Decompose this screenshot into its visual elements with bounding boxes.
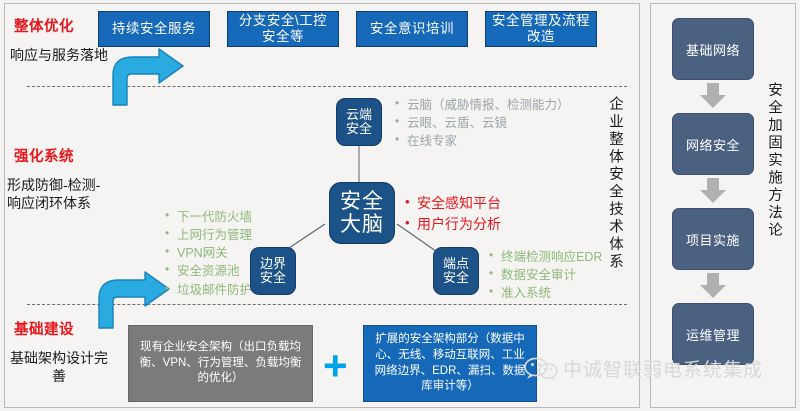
watermark: 中诚智联弱电系统集成 [524,355,763,382]
node-endpoint-security[interactable]: 端点 安全 [433,247,479,295]
plus-icon: + [323,345,348,387]
flow-arrow-0 [699,83,727,109]
existing-architecture-box[interactable]: 现有企业安全架构（出口负载均衡、VPN、行为管理、负载均衡的优化） [128,325,313,402]
node-security-brain-label: 安全 大脑 [340,190,384,236]
topbox-2[interactable]: 安全意识培训 [356,11,468,47]
stage-desc-0: 响应与服务落地 [9,47,109,65]
left-vertical-label: 企业整体安全技术体系 [605,96,626,271]
cyan-arrow-bottom [93,270,173,330]
list-item: 准入系统 [489,284,602,302]
topbox-0[interactable]: 持续安全服务 [98,11,210,47]
list-item: 用户行为分析 [405,214,501,235]
list-item: 垃圾邮件防护 [165,281,252,299]
diagram-canvas: 持续安全服务 分支安全\工控安全等 安全意识培训 安全管理及流程改造 整体优化 … [0,0,800,411]
list-item: 在线专家 [395,132,570,150]
right-panel: 基础网络 网络安全 项目实施 运维管理 安全加固实施方法论 [650,3,796,408]
flow-node-0[interactable]: 基础网络 [672,18,754,80]
topbox-3[interactable]: 安全管理及流程改造 [485,11,597,47]
stage-desc-2: 基础架构设计完善 [9,350,109,385]
wechat-icon [524,357,558,381]
topbox-1[interactable]: 分支安全\工控安全等 [227,11,339,47]
list-item: 下一代防火墙 [165,208,252,226]
flow-arrow-2 [699,273,727,299]
cyan-arrow-top [107,47,187,107]
node-boundary-security-label: 边界 安全 [260,257,286,286]
list-item: 云脑（威胁情报、检测能力） [395,96,570,114]
node-boundary-security[interactable]: 边界 安全 [250,247,296,295]
left-panel: 持续安全服务 分支安全\工控安全等 安全意识培训 安全管理及流程改造 整体优化 … [4,3,640,408]
node-cloud-security[interactable]: 云端 安全 [336,98,382,146]
endpoint-bullet-list: 终端检测响应EDR 数据安全审计 准入系统 [489,248,602,302]
node-cloud-security-label: 云端 安全 [346,108,372,137]
list-item: 上网行为管理 [165,226,252,244]
stage-title-0: 整体优化 [14,15,74,36]
boundary-bullet-list: 下一代防火墙 上网行为管理 VPN网关 安全资源池 垃圾邮件防护 [165,208,252,299]
node-security-brain[interactable]: 安全 大脑 [329,182,395,244]
list-item: 云眼、云盾、云镜 [395,114,570,132]
stage-desc-1: 形成防御-检测-响应闭环体系 [7,177,107,212]
flow-node-1[interactable]: 网络安全 [672,113,754,175]
flow-node-2[interactable]: 项目实施 [672,208,754,270]
stage-title-1: 强化系统 [14,145,74,166]
list-item: 终端检测响应EDR [489,248,602,266]
list-item: 安全感知平台 [405,193,501,214]
list-item: 数据安全审计 [489,266,602,284]
node-endpoint-security-label: 端点 安全 [443,257,469,286]
watermark-text: 中诚智联弱电系统集成 [563,355,763,382]
stage-title-2: 基础建设 [14,318,74,339]
list-item: 安全资源池 [165,262,252,280]
right-vertical-label: 安全加固实施方法论 [764,82,785,240]
flow-arrow-1 [699,178,727,204]
cloud-bullet-list: 云脑（威胁情报、检测能力） 云眼、云盾、云镜 在线专家 [395,96,570,150]
extended-architecture-box[interactable]: 扩展的安全架构部分（数据中心、无线、移动互联网、工业网络边界、EDR、漏扫、数据… [363,325,537,402]
list-item: VPN网关 [165,244,252,262]
brain-bullet-list: 安全感知平台 用户行为分析 [405,193,501,235]
